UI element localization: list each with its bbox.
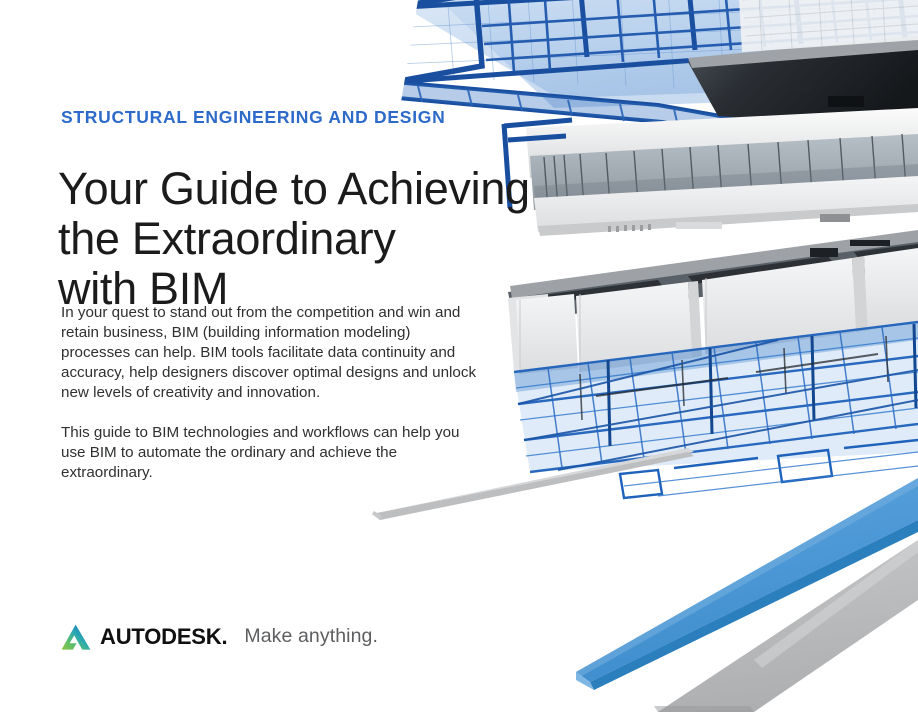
blue-ramp — [576, 478, 918, 690]
building-soffit-upper-right — [688, 36, 918, 132]
eyebrow-category-label: STRUCTURAL ENGINEERING AND DESIGN — [61, 107, 445, 128]
white-concrete-beams — [508, 248, 918, 374]
lower-roof-edge — [508, 230, 918, 322]
intro-paragraph-2: This guide to BIM technologies and workf… — [61, 423, 481, 483]
page-title: Your Guide to Achieving the Extraordinar… — [58, 164, 538, 314]
roof-grid-panel-upper-right — [738, 0, 918, 52]
autodesk-wordmark: AUTODESK. — [100, 626, 227, 648]
intro-paragraph-1: In your quest to stand out from the comp… — [61, 303, 481, 403]
building-facade-midband — [504, 108, 918, 236]
headline-line-2: the Extraordinary — [58, 214, 538, 264]
intro-copy: In your quest to stand out from the comp… — [61, 303, 481, 483]
blue-structural-volume-lower — [514, 322, 918, 498]
gray-ramp — [654, 540, 918, 712]
cover-page: STRUCTURAL ENGINEERING AND DESIGN Your G… — [0, 0, 918, 712]
autodesk-logo-lockup: AUTODESK. Make anything. — [61, 620, 378, 654]
autodesk-a-logo-icon — [61, 624, 91, 650]
autodesk-tagline: Make anything. — [244, 627, 378, 647]
headline-line-1: Your Guide to Achieving — [58, 164, 538, 214]
blue-steel-joists-upper — [482, 0, 918, 72]
cover-text-column: STRUCTURAL ENGINEERING AND DESIGN Your G… — [61, 0, 491, 712]
